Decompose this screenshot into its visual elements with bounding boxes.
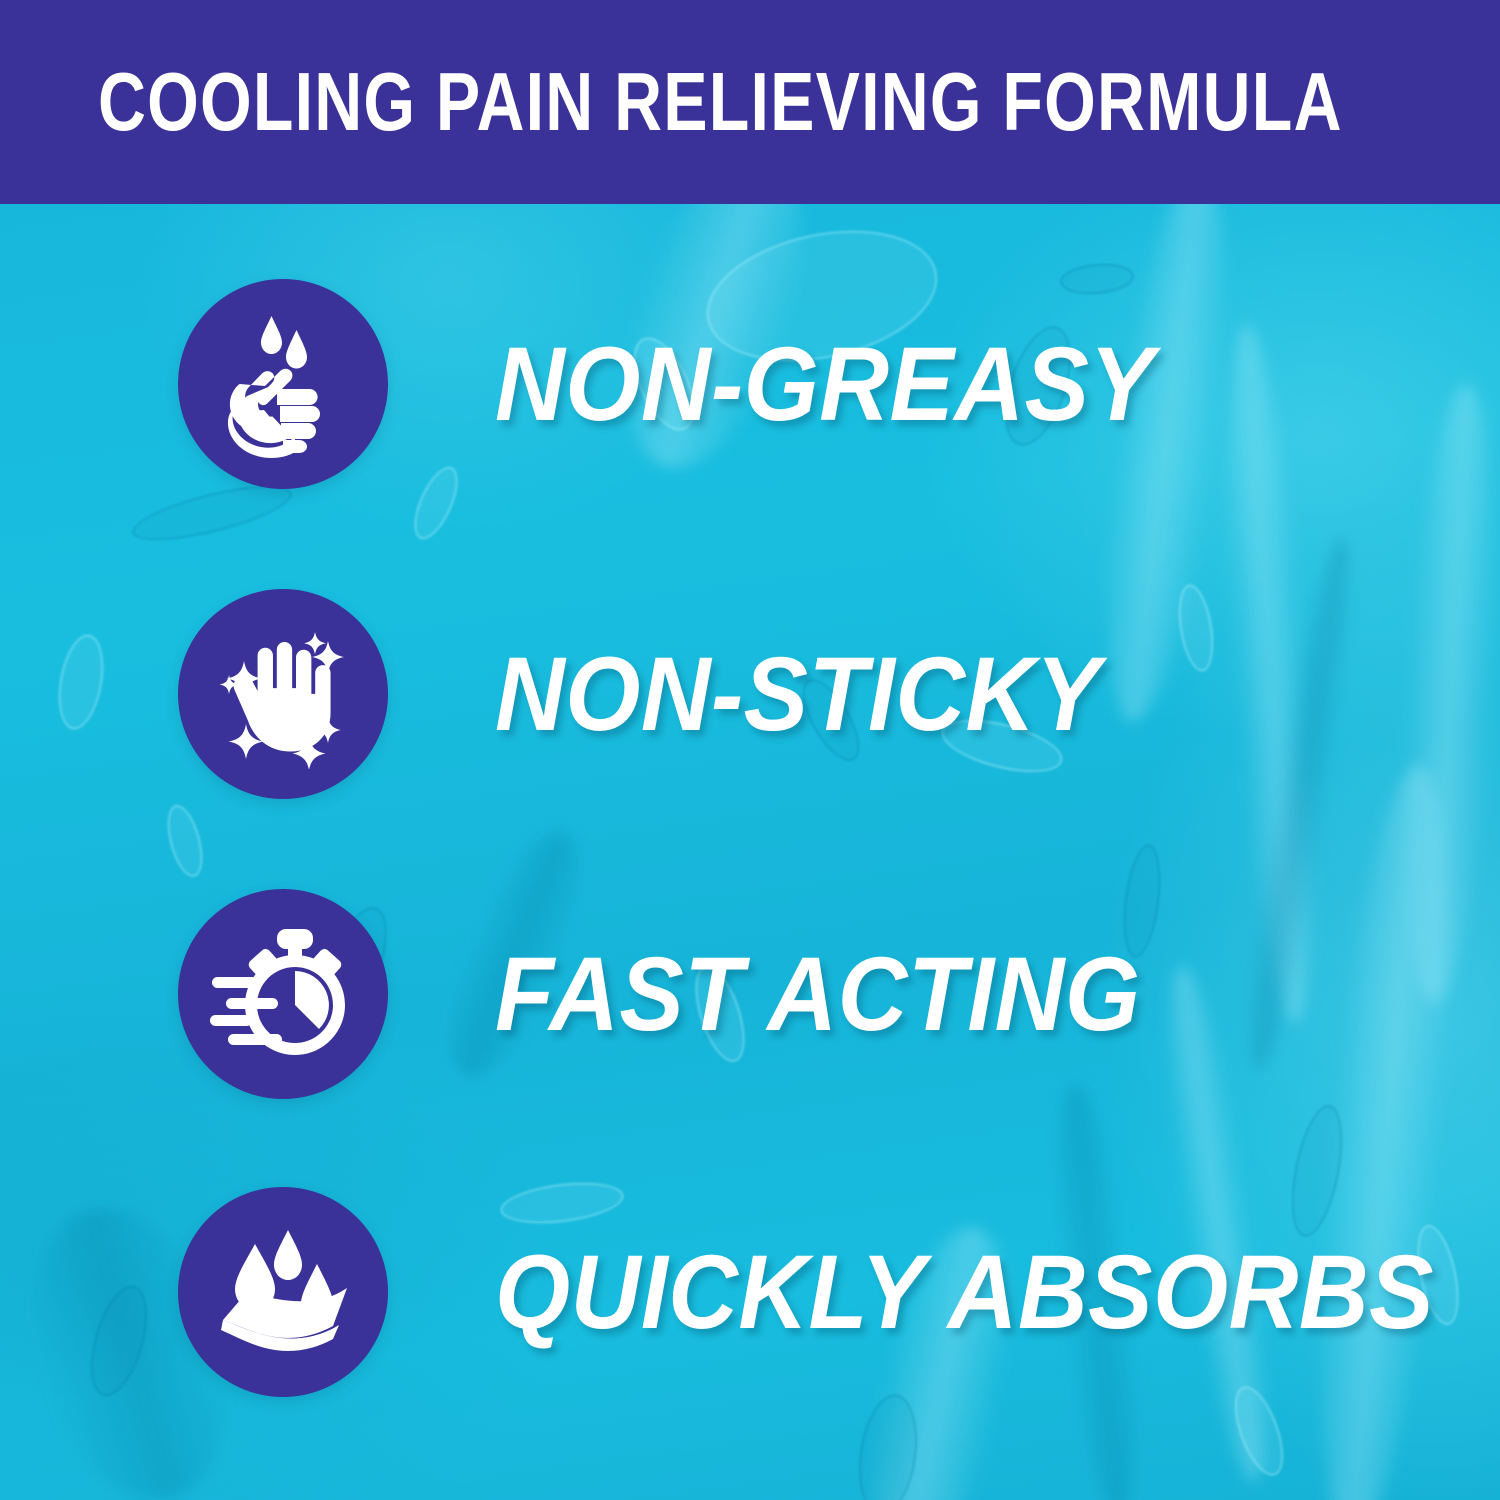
feature-icon-badge: [178, 1187, 388, 1397]
sparkling-hand-icon: [208, 619, 358, 769]
feature-row-quickly-absorbs: QUICKLY ABSORBS: [0, 1186, 1500, 1398]
feature-label: NON-GREASY: [495, 332, 1154, 437]
feature-icon-badge: [178, 589, 388, 799]
feature-label: QUICKLY ABSORBS: [495, 1240, 1434, 1345]
feature-row-non-sticky: NON-STICKY: [0, 588, 1500, 800]
feature-icon-badge: [178, 889, 388, 1099]
feature-row-non-greasy: NON-GREASY: [0, 278, 1500, 490]
header-bar: COOLING PAIN RELIEVING FORMULA: [0, 0, 1500, 204]
feature-row-fast-acting: FAST ACTING: [0, 888, 1500, 1100]
page-title: COOLING PAIN RELIEVING FORMULA: [98, 50, 1162, 154]
product-feature-infographic: COOLING PAIN RELIEVING FORMULA: [0, 0, 1500, 1500]
feature-label: NON-STICKY: [495, 642, 1101, 747]
droplets-absorbing-surface-icon: [207, 1216, 359, 1368]
feature-list: NON-GREASY: [0, 204, 1500, 1500]
hands-rubbing-droplets-icon: [209, 310, 357, 458]
stopwatch-speed-icon: [208, 919, 358, 1069]
feature-label: FAST ACTING: [495, 942, 1140, 1047]
feature-icon-badge: [178, 279, 388, 489]
